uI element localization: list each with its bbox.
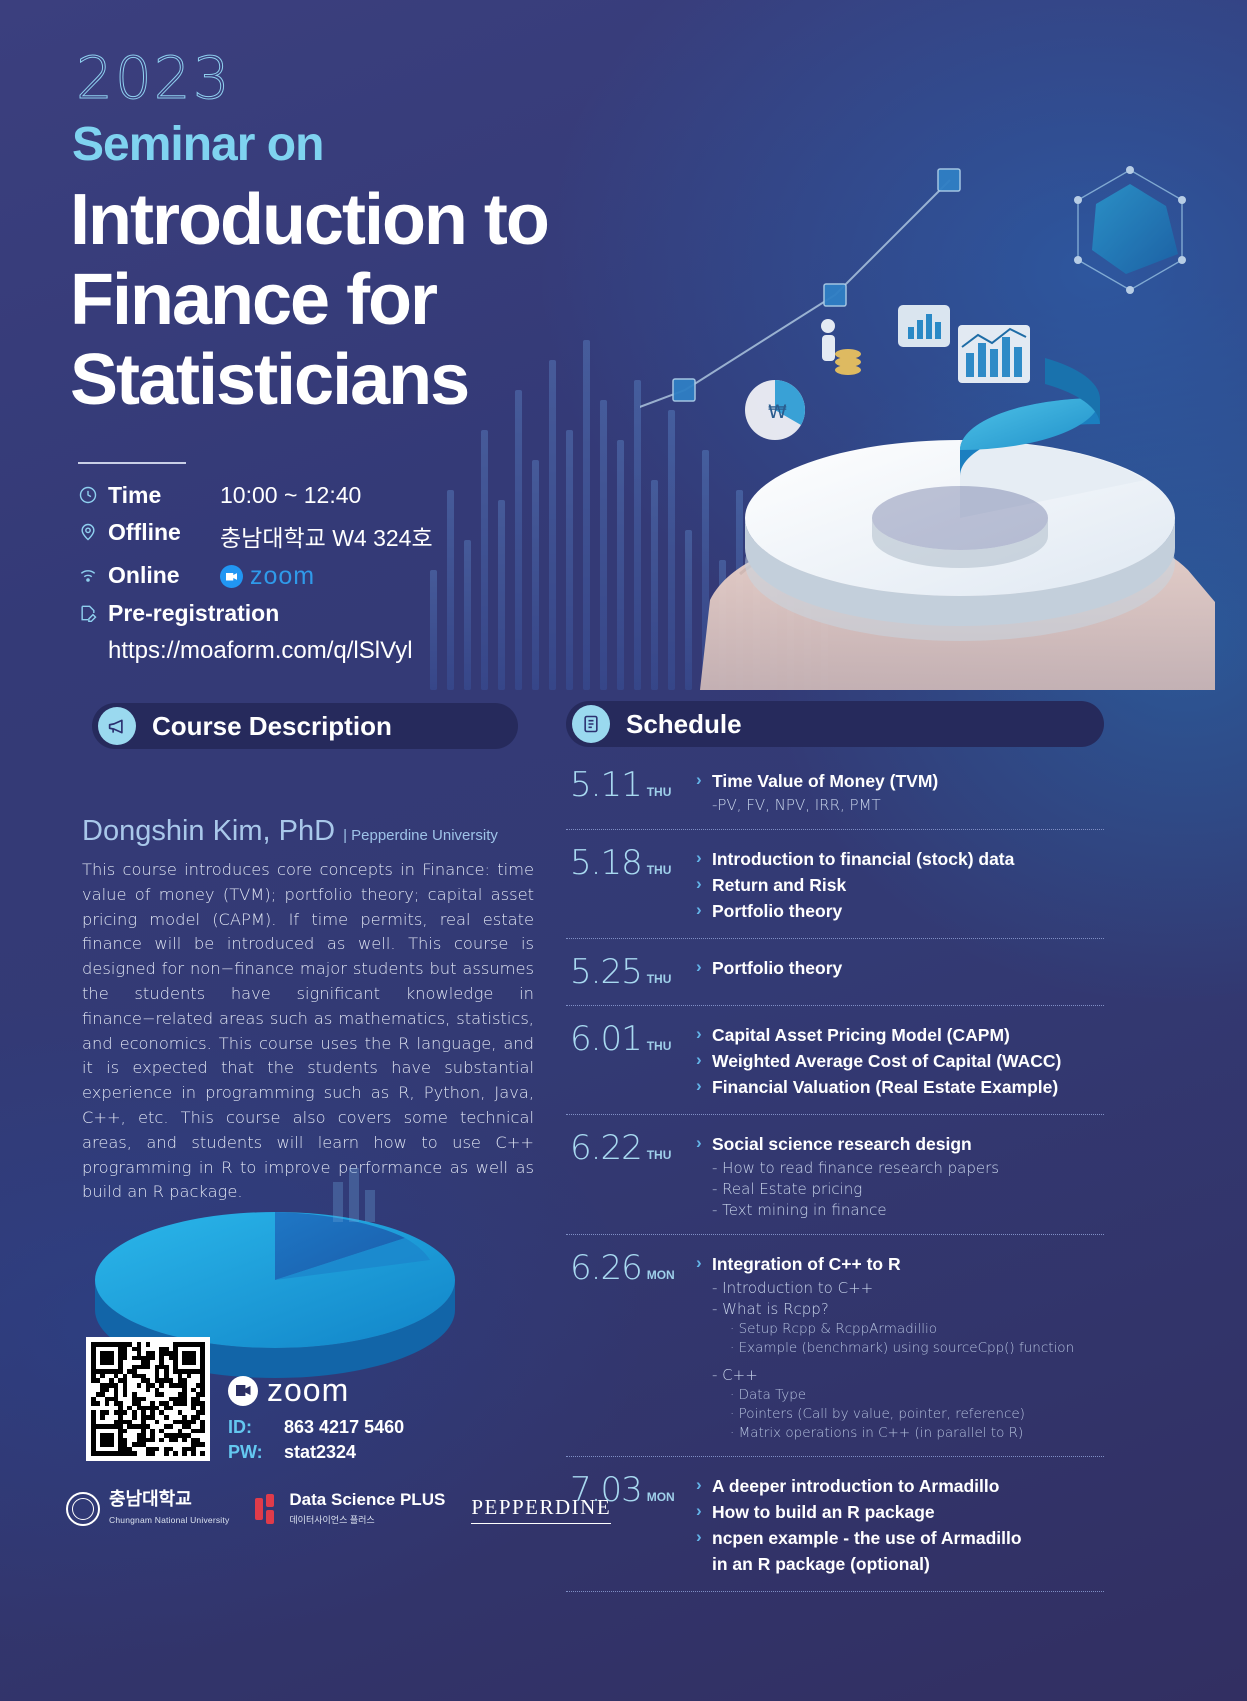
schedule-date-weekday: THU [647, 863, 672, 877]
schedule-date-weekday: THU [647, 972, 672, 986]
schedule-topic: ›Portfolio theory [696, 956, 1104, 980]
background-bar [566, 430, 573, 690]
schedule-topic-text: in an R package (optional) [712, 1552, 930, 1576]
schedule-date-number: 5.11 [570, 765, 642, 805]
schedule-subitem: - What is Rcpp? [712, 1299, 1104, 1320]
info-row-offline: Offline 충남대학교 W4 324호 [78, 519, 433, 553]
offline-label: Offline [108, 519, 220, 546]
instructor-line: Dongshin Kim, PhD | Pepperdine Universit… [82, 815, 498, 848]
schedule-topic: ›Social science research design [696, 1132, 1104, 1156]
qr-cell [200, 1451, 205, 1456]
schedule-topic: ›Portfolio theory [696, 899, 1104, 923]
schedule-date-weekday: MON [647, 1268, 675, 1282]
logo-data-science-plus: Data Science PLUS 데이터사이언스 플러스 [255, 1490, 445, 1528]
background-bar [481, 430, 488, 690]
schedule-date-number: 6.01 [570, 1019, 642, 1059]
schedule-list: 5.11THU›Time Value of Money (TVM)-PV, FV… [566, 752, 1104, 1592]
schedule-subitem-level2: · Example (benchmark) using sourceCpp() … [730, 1339, 1104, 1358]
info-row-time: Time 10:00 ~ 12:40 [78, 482, 433, 510]
schedule-topic: ›ncpen example - the use of Armadillo [696, 1526, 1104, 1550]
offline-value: 충남대학교 W4 324호 [220, 519, 433, 553]
chevron-right-icon: › [696, 1474, 712, 1496]
zoom-id-label: ID: [228, 1415, 284, 1440]
schedule-body: ›Time Value of Money (TVM)-PV, FV, NPV, … [696, 765, 1104, 816]
instructor-affiliation: | Pepperdine University [343, 827, 498, 844]
spacer [696, 1358, 1104, 1365]
schedule-body: ›Social science research design- How to … [696, 1128, 1104, 1221]
schedule-body: ›Introduction to financial (stock) data›… [696, 843, 1104, 925]
course-description-header: Course Description [92, 703, 518, 749]
svg-text:₩: ₩ [768, 401, 787, 423]
chevron-right-icon: › [696, 1526, 712, 1548]
seminar-on-label: Seminar on [72, 117, 323, 172]
location-pin-icon [78, 519, 108, 547]
schedule-date: 6.01THU [566, 1019, 696, 1101]
background-bar [515, 390, 522, 690]
university-seal-icon [66, 1492, 100, 1526]
schedule-subitem: - How to read finance research papers [712, 1158, 1104, 1179]
schedule-date: 5.11THU [566, 765, 696, 816]
zoom-id-row: ID: 863 4217 5460 [228, 1415, 404, 1440]
header-divider [78, 462, 186, 464]
background-bar [617, 440, 624, 690]
chevron-right-icon: › [696, 1132, 712, 1154]
time-label: Time [108, 482, 220, 509]
chevron-right-icon: › [696, 899, 712, 921]
schedule-topic-text: Portfolio theory [712, 899, 842, 923]
schedule-subitem: - Introduction to C++ [712, 1278, 1104, 1299]
schedule-topic: ›Time Value of Money (TVM) [696, 769, 1104, 793]
zoom-credentials: zoom ID: 863 4217 5460 PW: stat2324 [228, 1372, 404, 1465]
clock-icon [78, 482, 108, 510]
hero-illustration: ₩ [640, 130, 1247, 690]
registration-form-icon [78, 600, 108, 628]
dsp-name-en: Data Science PLUS [289, 1490, 445, 1509]
schedule-row: 7.03MON›A deeper introduction to Armadil… [566, 1457, 1104, 1592]
zoom-wordmark: zoom [250, 562, 315, 591]
schedule-topic-text: Integration of C++ to R [712, 1252, 901, 1276]
schedule-body: ›Capital Asset Pricing Model (CAPM)›Weig… [696, 1019, 1104, 1101]
schedule-subitem-level2: · Pointers (Call by value, pointer, refe… [730, 1405, 1104, 1424]
schedule-date: 7.03MON [566, 1470, 696, 1578]
zoom-pw-value: stat2324 [284, 1440, 356, 1465]
prereg-url-link[interactable]: https://moaform.com/q/lSlVyl [108, 637, 433, 665]
instructor-name: Dongshin Kim, PhD [82, 815, 335, 848]
schedule-date: 5.25THU [566, 952, 696, 992]
schedule-topic: ›Integration of C++ to R [696, 1252, 1104, 1276]
zoom-camera-icon-large [228, 1376, 258, 1406]
schedule-topic-text: Portfolio theory [712, 956, 842, 980]
schedule-date: 6.26MON [566, 1248, 696, 1443]
chevron-right-icon: › [696, 769, 712, 791]
title-line-1: Introduction to [70, 180, 548, 260]
schedule-topic-text: ncpen example - the use of Armadillo [712, 1526, 1022, 1550]
chevron-right-icon: › [696, 1075, 712, 1097]
chevron-right-icon: › [696, 1500, 712, 1522]
schedule-body: ›A deeper introduction to Armadillo›How … [696, 1470, 1104, 1578]
schedule-subitem: - Text mining in finance [712, 1200, 1104, 1221]
cnu-name-en: Chungnam National University [109, 1515, 229, 1525]
schedule-date: 5.18THU [566, 843, 696, 925]
schedule-topic-text: Social science research design [712, 1132, 972, 1156]
title-line-2: Finance for [70, 260, 548, 340]
footer-logos: 충남대학교 Chungnam National University Data … [66, 1490, 611, 1528]
schedule-row: 5.25THU›Portfolio theory [566, 939, 1104, 1006]
schedule-subitem-level2: · Data Type [730, 1386, 1104, 1405]
zoom-id-value: 863 4217 5460 [284, 1415, 404, 1440]
schedule-date: 6.22THU [566, 1128, 696, 1221]
schedule-date-weekday: THU [647, 1148, 672, 1162]
document-list-icon [572, 705, 610, 743]
zoom-logo-large: zoom [228, 1372, 404, 1409]
prereg-label: Pre-registration [108, 600, 279, 627]
schedule-topic-text: Introduction to financial (stock) data [712, 847, 1014, 871]
cnu-name-kr: 충남대학교 [109, 1489, 192, 1509]
chevron-right-icon: › [696, 1252, 712, 1274]
schedule-topic: ›Introduction to financial (stock) data [696, 847, 1104, 871]
course-description-text: This course introduces core concepts in … [82, 858, 534, 1205]
schedule-topic-text: Weighted Average Cost of Capital (WACC) [712, 1049, 1061, 1073]
zoom-pw-row: PW: stat2324 [228, 1440, 404, 1465]
dsp-name-kr: 데이터사이언스 플러스 [289, 1515, 374, 1525]
chevron-right-icon: › [696, 873, 712, 895]
schedule-date-weekday: MON [647, 1490, 675, 1504]
schedule-body: ›Portfolio theory [696, 952, 1104, 992]
schedule-topic-text: Capital Asset Pricing Model (CAPM) [712, 1023, 1010, 1047]
background-bar [549, 360, 556, 690]
background-bar [600, 400, 607, 690]
background-bar [498, 500, 505, 690]
zoom-logo-inline[interactable]: zoom [220, 562, 315, 591]
schedule-topic: ›Capital Asset Pricing Model (CAPM) [696, 1023, 1104, 1047]
schedule-body: ›Integration of C++ to R- Introduction t… [696, 1248, 1104, 1443]
schedule-subitem: - C++ [712, 1365, 1104, 1386]
qr-code[interactable] [86, 1337, 210, 1461]
schedule-topic: ›Return and Risk [696, 873, 1104, 897]
schedule-subitem-level2: · Setup Rcpp & RcppArmadillio [730, 1320, 1104, 1339]
info-row-prereg: Pre-registration [78, 600, 433, 628]
schedule-date-number: 7.03 [570, 1470, 642, 1510]
schedule-topic-text: Financial Valuation (Real Estate Example… [712, 1075, 1058, 1099]
background-bar [583, 340, 590, 690]
wifi-icon [78, 562, 108, 590]
schedule-header: Schedule [566, 701, 1104, 747]
schedule-topic-text: Time Value of Money (TVM) [712, 769, 938, 793]
page-title: Introduction to Finance for Statistician… [70, 180, 548, 420]
schedule-subitem: -PV, FV, NPV, IRR, PMT [712, 795, 1104, 816]
zoom-pw-label: PW: [228, 1440, 284, 1465]
schedule-topic-text: Return and Risk [712, 873, 846, 897]
schedule-topic: ›Weighted Average Cost of Capital (WACC) [696, 1049, 1104, 1073]
course-description-title: Course Description [152, 711, 392, 742]
poster-root: 2023 Seminar on Introduction to Finance … [0, 0, 1247, 1701]
background-bar [532, 460, 539, 690]
zoom-camera-icon [220, 565, 243, 588]
schedule-row: 6.22THU›Social science research design- … [566, 1115, 1104, 1235]
background-bar [447, 490, 454, 690]
schedule-subitem: - Real Estate pricing [712, 1179, 1104, 1200]
chevron-right-icon: › [696, 847, 712, 869]
schedule-date-number: 5.18 [570, 843, 642, 883]
online-label: Online [108, 562, 220, 589]
background-bar [464, 540, 471, 690]
event-info-list: Time 10:00 ~ 12:40 Offline 충남대학교 W4 324호… [78, 482, 433, 665]
schedule-row: 5.11THU›Time Value of Money (TVM)-PV, FV… [566, 752, 1104, 830]
schedule-topic: ›A deeper introduction to Armadillo [696, 1474, 1104, 1498]
chevron-right-icon: › [696, 1049, 712, 1071]
title-line-3: Statisticians [70, 340, 548, 420]
schedule-date-number: 6.22 [570, 1128, 642, 1168]
schedule-topic: ›How to build an R package [696, 1500, 1104, 1524]
logo-chungnam-national-university: 충남대학교 Chungnam National University [66, 1490, 229, 1528]
schedule-row: 6.01THU›Capital Asset Pricing Model (CAP… [566, 1006, 1104, 1115]
year-label: 2023 [76, 44, 232, 112]
schedule-title: Schedule [626, 709, 742, 740]
schedule-date-weekday: THU [647, 1039, 672, 1053]
schedule-date-weekday: THU [647, 785, 672, 799]
schedule-date-number: 6.26 [570, 1248, 642, 1288]
schedule-row: 5.18THU›Introduction to financial (stock… [566, 830, 1104, 939]
megaphone-icon [98, 707, 136, 745]
schedule-topic-text: A deeper introduction to Armadillo [712, 1474, 999, 1498]
data-science-plus-mark-icon [255, 1494, 281, 1524]
schedule-topic: ›Financial Valuation (Real Estate Exampl… [696, 1075, 1104, 1099]
schedule-row: 6.26MON›Integration of C++ to R- Introdu… [566, 1235, 1104, 1457]
schedule-topic-text: How to build an R package [712, 1500, 935, 1524]
schedule-subitem-level2: · Matrix operations in C++ (in parallel … [730, 1424, 1104, 1443]
time-value: 10:00 ~ 12:40 [220, 482, 361, 509]
chevron-right-icon: › [696, 1023, 712, 1045]
schedule-topic: in an R package (optional) [696, 1552, 1104, 1576]
schedule-date-number: 5.25 [570, 952, 642, 992]
chevron-right-icon: › [696, 956, 712, 978]
info-row-online: Online zoom [78, 562, 433, 591]
zoom-wordmark-large: zoom [267, 1372, 349, 1409]
